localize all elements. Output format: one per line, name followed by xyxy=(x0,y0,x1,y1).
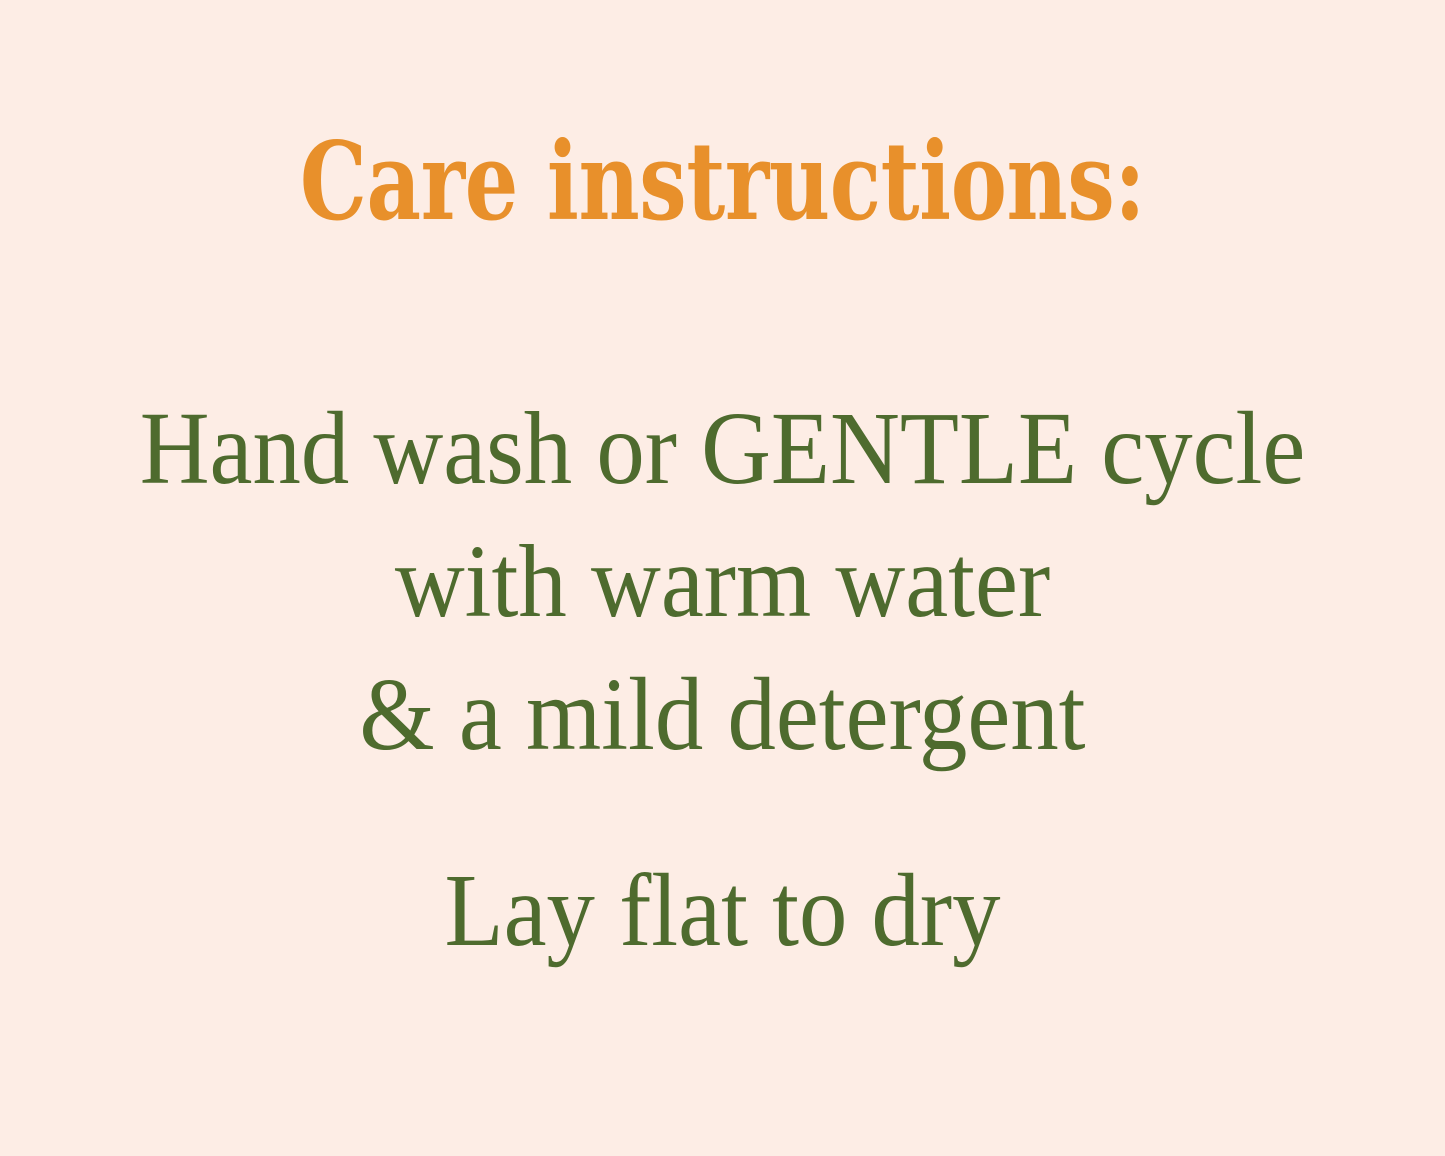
instruction-line-2: with warm water xyxy=(51,515,1395,648)
instruction-line-drying: Lay flat to dry xyxy=(51,851,1395,971)
care-instructions-card: Care instructions: Hand wash or GENTLE c… xyxy=(0,0,1445,1156)
instructions-block: Hand wash or GENTLE cycle with warm wate… xyxy=(0,382,1445,781)
instruction-line-1: Hand wash or GENTLE cycle xyxy=(51,382,1395,515)
page-title: Care instructions: xyxy=(159,128,1286,236)
instruction-line-3: & a mild detergent xyxy=(51,648,1395,781)
